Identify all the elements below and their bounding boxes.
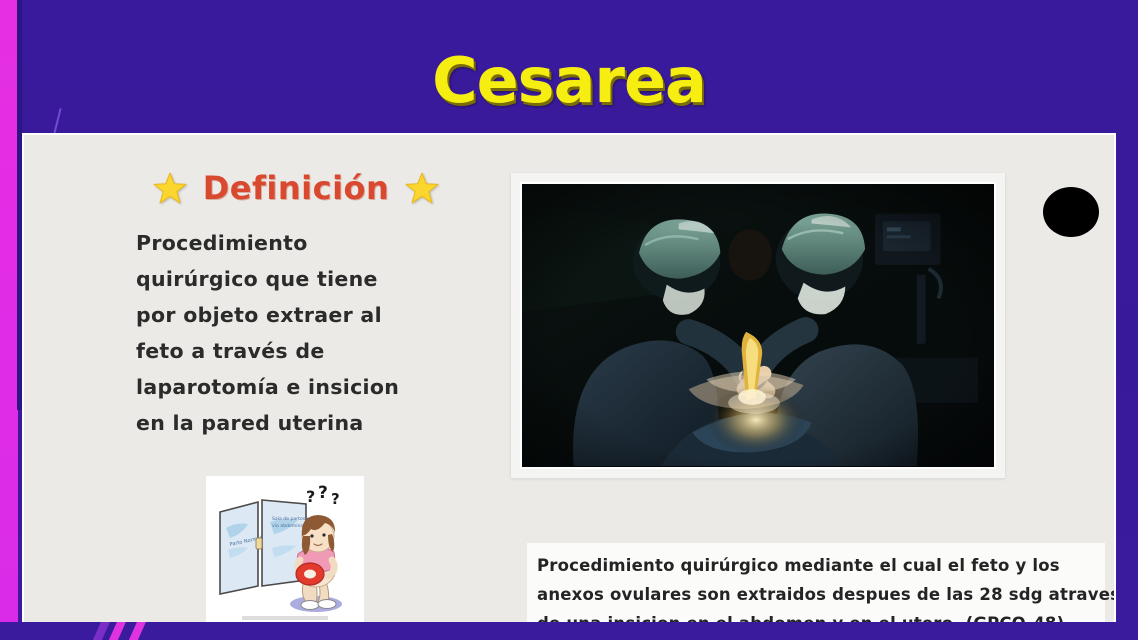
- definition-line: en la pared uterina: [136, 405, 446, 441]
- definition-heading-group: Definición: [106, 169, 486, 207]
- svg-text:via abdominal: via abdominal: [272, 523, 304, 529]
- svg-text:?: ?: [331, 490, 340, 508]
- note-line: anexos ovulares son extraidos despues de…: [537, 580, 1095, 609]
- title-bar: Cesarea: [0, 0, 1138, 134]
- bottom-accent-band: [0, 622, 1138, 640]
- definition-line: Procedimiento: [136, 225, 446, 261]
- definition-line: feto a través de: [136, 333, 446, 369]
- content-panel: Definición Procedimiento quirúrgico que …: [24, 135, 1114, 626]
- svg-text:?: ?: [306, 487, 315, 506]
- black-circle-icon: [1043, 187, 1099, 237]
- surgery-photo: [520, 182, 996, 469]
- star-icon-right: [405, 171, 439, 205]
- star-icon-left: [153, 171, 187, 205]
- definition-line: por objeto extraer al: [136, 297, 446, 333]
- definition-line: laparotomía e insicion: [136, 369, 446, 405]
- accent-stripe: [124, 622, 148, 640]
- cartoon-illustration: Parto Normal Sala de partos por via abdo…: [206, 476, 364, 626]
- page-title: Cesarea: [0, 44, 1138, 117]
- note-line: Procedimiento quirúrgico mediante el cua…: [537, 551, 1095, 580]
- definition-line: quirúrgico que tiene: [136, 261, 446, 297]
- svg-text:?: ?: [318, 483, 328, 503]
- definition-body: Procedimiento quirúrgico que tiene por o…: [136, 225, 446, 441]
- definition-heading: Definición: [203, 169, 390, 207]
- content-panel-frame: Definición Procedimiento quirúrgico que …: [22, 133, 1116, 628]
- presentation-slide: Cesarea Definición Pr: [0, 0, 1138, 640]
- note-block: Procedimiento quirúrgico mediante el cua…: [527, 543, 1105, 626]
- surgery-photo-frame: [511, 173, 1005, 478]
- note-text: Procedimiento quirúrgico mediante el cua…: [537, 551, 1095, 626]
